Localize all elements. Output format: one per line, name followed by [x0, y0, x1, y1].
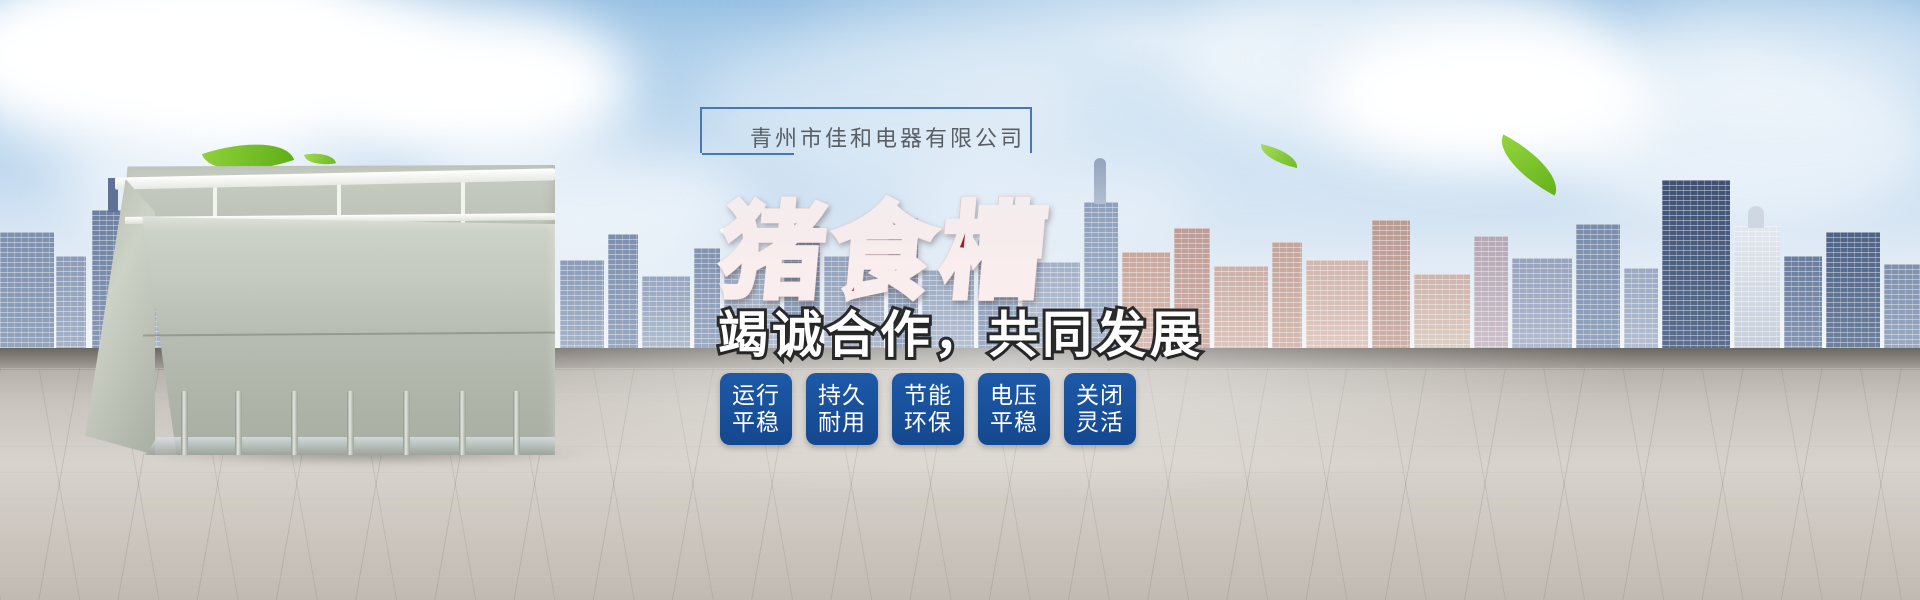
company-name: 青州市佳和电器有限公司 [750, 121, 1170, 153]
badge-line-1: 电压 [990, 382, 1038, 409]
building [1372, 220, 1410, 352]
building [608, 234, 638, 352]
badge-line-2: 平稳 [732, 409, 780, 436]
building [560, 260, 604, 352]
building [56, 256, 86, 352]
trough-bar [513, 391, 520, 455]
trough-bar [459, 391, 466, 455]
banner-copy: 青州市佳和电器有限公司 猪食槽 猪食槽 竭诚合作，共同发展 运行 平稳 持久 耐… [700, 95, 1260, 515]
building-spire [1748, 206, 1764, 228]
badge-line-1: 持久 [818, 382, 866, 409]
trough-bar [403, 391, 410, 455]
promo-banner: 青州市佳和电器有限公司 猪食槽 猪食槽 竭诚合作，共同发展 运行 平稳 持久 耐… [0, 0, 1920, 600]
badge-line-2: 灵活 [1076, 409, 1124, 436]
trough-bar [235, 391, 242, 455]
trough-bar [347, 391, 354, 455]
building [1784, 256, 1822, 352]
badge-line-2: 耐用 [818, 409, 866, 436]
trough-bar [291, 391, 298, 455]
badge-line-1: 运行 [732, 382, 780, 409]
frame-stub [702, 153, 794, 155]
feature-badge[interactable]: 电压 平稳 [978, 373, 1050, 445]
feature-badge[interactable]: 节能 环保 [892, 373, 964, 445]
feature-badge[interactable]: 持久 耐用 [806, 373, 878, 445]
building [1884, 264, 1920, 352]
building [1474, 236, 1508, 352]
cloud [330, 10, 630, 160]
building [0, 232, 54, 352]
building [1272, 242, 1302, 352]
feature-badge-list: 运行 平稳 持久 耐用 节能 环保 电压 平稳 关闭 灵活 [720, 373, 1136, 445]
badge-line-1: 节能 [904, 382, 952, 409]
badge-line-2: 环保 [904, 409, 952, 436]
banner-subtitle: 竭诚合作，共同发展 [718, 295, 1204, 367]
badge-line-2: 平稳 [990, 409, 1038, 436]
building [1734, 226, 1780, 352]
feature-badge[interactable]: 关闭 灵活 [1064, 373, 1136, 445]
building [1414, 274, 1470, 352]
building [1306, 260, 1368, 352]
building [1624, 268, 1658, 352]
badge-line-1: 关闭 [1076, 382, 1124, 409]
building [1662, 180, 1730, 352]
building [1576, 224, 1620, 352]
building [1512, 258, 1572, 352]
product-feed-trough [85, 165, 555, 455]
building [1826, 232, 1880, 352]
feature-badge[interactable]: 运行 平稳 [720, 373, 792, 445]
trough-bar [181, 391, 188, 455]
building [642, 276, 690, 352]
